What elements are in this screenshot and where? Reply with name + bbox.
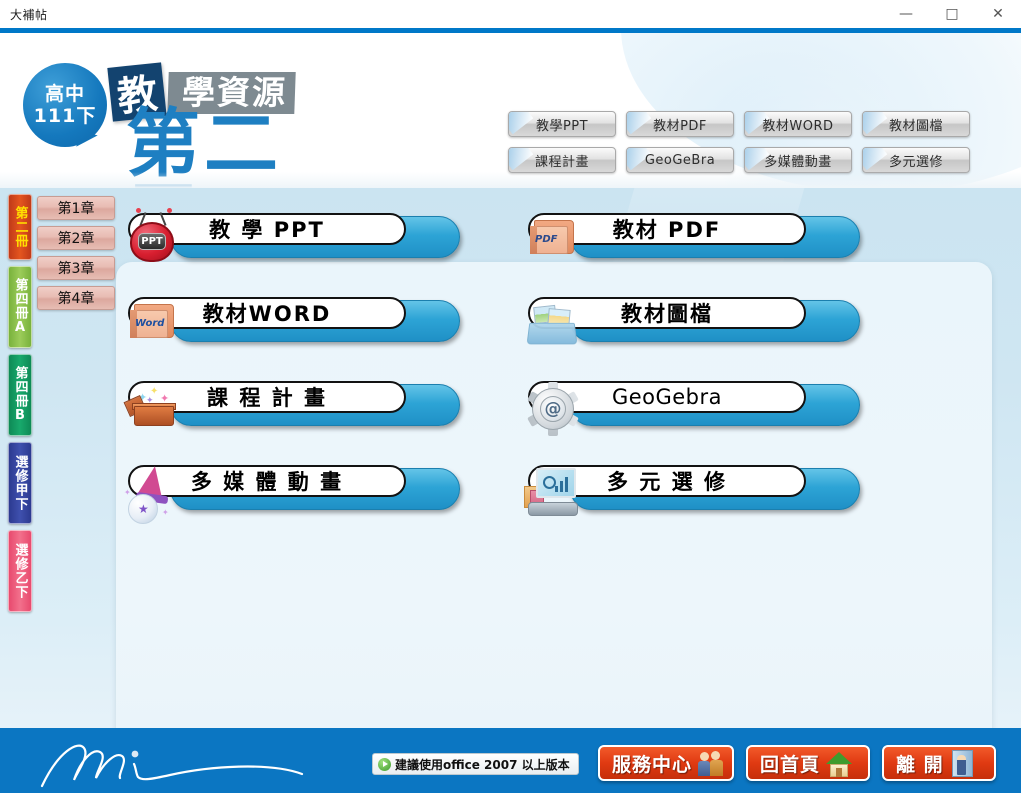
people-icon [698,749,724,777]
nav-stripe-decor-icon [508,147,533,170]
header-nav-word-label: 教材WORD [762,115,833,134]
header-nav-pdf[interactable]: 教材PDF [626,111,734,137]
box-base-icon [134,406,174,426]
header-nav-buttons: 教學PPT 教材PDF 教材WORD 教材圖檔 課程計畫 GeoGeBra 多媒… [508,111,1008,173]
at-symbol-icon: @ [540,396,566,422]
menu-item-diverse-elective[interactable]: 多 元 選 修 [522,460,862,518]
ppt-tv-icon: PPT [122,208,184,266]
treasure-box-icon: ✦ ✦ ✦ ✦ [122,376,184,434]
app-header: 高中 111下 教 學資源 第二冊 教學PPT 教材PDF 教材WORD 教材圖… [0,33,1021,188]
window-titlebar: 大補帖 — □ ✕ [0,0,1021,28]
volume-tab-list: 第二冊 第四冊A 第四冊B 選修甲下 選修乙下 [8,194,32,618]
exit-door-icon [950,749,976,777]
folder-tag-label: Word [135,318,164,329]
header-nav-plan-label: 課程計畫 [535,151,589,170]
sidebar-tab-elective-b[interactable]: 選修乙下 [8,530,32,612]
header-nav-animation-label: 多媒體動畫 [764,151,832,170]
window-title: 大補帖 [10,6,48,23]
nani-brand-logo [30,734,330,790]
maximize-button[interactable]: □ [929,0,975,28]
header-nav-image-label: 教材圖檔 [889,115,943,134]
nav-stripe-decor-icon [508,111,533,134]
menu-item-course-plan[interactable]: 課 程 計 畫 ✦ ✦ ✦ ✦ [122,376,462,434]
minimize-button[interactable]: — [883,0,929,28]
header-nav-elective-label: 多元選修 [889,151,943,170]
menu-item-material-word[interactable]: 教材WORD Word [122,292,462,350]
header-fade-decor [0,172,1021,188]
sparkle-icon: ✦ [124,488,131,497]
menu-item-teaching-ppt[interactable]: 教 學 PPT PPT [122,208,462,266]
pdf-folder-icon: PDF [522,208,584,266]
grade-badge: 高中 111下 [23,63,107,147]
header-nav-plan[interactable]: 課程計畫 [508,147,616,173]
sidebar-tab-elective-a[interactable]: 選修甲下 [8,442,32,524]
nav-stripe-decor-icon [626,111,651,134]
grade-badge-line2: 111下 [34,105,97,127]
grade-badge-line1: 高中 [45,83,85,105]
house-icon [826,749,852,777]
antenna-dot-icon [136,208,141,213]
folder-tag-label: PDF [535,234,557,245]
service-center-button[interactable]: 服務中心 [598,745,734,781]
header-nav-word[interactable]: 教材WORD [744,111,852,137]
tray-icon [527,323,578,345]
exit-button-label: 離 開 [896,750,944,777]
exit-button[interactable]: 離 開 [882,745,996,781]
header-nav-geogebra[interactable]: GeoGeBra [626,147,734,173]
header-nav-ppt[interactable]: 教學PPT [508,111,616,137]
stand-icon [528,502,578,516]
chapter-button-2[interactable]: 第2章 [37,226,115,250]
image-tray-icon [522,292,584,350]
home-button[interactable]: 回首頁 [746,745,870,781]
monitor-icon [536,468,576,498]
home-button-label: 回首頁 [760,750,820,777]
bar-chart-icon [555,477,568,492]
tv-screen-label: PPT [138,233,166,250]
header-nav-pdf-label: 教材PDF [653,115,707,134]
service-center-button-label: 服務中心 [612,750,692,777]
play-icon [378,758,391,771]
menu-item-multimedia-animation[interactable]: 多 媒 體 動 畫 ★ ✦ ✦ [122,460,462,518]
nav-stripe-decor-icon [862,147,887,170]
chapter-button-list: 第1章 第2章 第3章 第4章 [37,196,115,316]
star-icon: ★ [138,502,149,516]
magic-hat-icon: ★ ✦ ✦ [122,460,184,518]
menu-item-geogebra[interactable]: GeoGebra @ [522,376,862,434]
multimedia-icon [522,460,584,518]
header-nav-geogebra-label: GeoGeBra [645,153,715,168]
office-version-notice: 建議使用office 2007 以上版本 [372,753,579,775]
header-nav-ppt-label: 教學PPT [536,115,588,134]
resource-menu-grid: 教 學 PPT PPT 教材 PDF PDF 教材WORD Word [122,208,862,518]
menu-item-material-pdf[interactable]: 教材 PDF PDF [522,208,862,266]
word-folder-icon: Word [122,292,184,350]
brand-logo: 高中 111下 教 學資源 第二冊 [18,45,338,185]
chapter-button-1[interactable]: 第1章 [37,196,115,220]
gear-at-icon: @ [522,376,584,434]
nav-stripe-decor-icon [862,111,887,134]
office-version-notice-label: 建議使用office 2007 以上版本 [395,756,570,773]
sidebar-tab-volume-4b[interactable]: 第四冊B [8,354,32,436]
sparkle-icon: ✦ [162,508,169,517]
menu-item-material-images[interactable]: 教材圖檔 [522,292,862,350]
header-nav-animation[interactable]: 多媒體動畫 [744,147,852,173]
antenna-dot-icon [167,208,172,213]
sidebar-tab-volume-2[interactable]: 第二冊 [8,194,32,260]
header-nav-image[interactable]: 教材圖檔 [862,111,970,137]
chapter-button-4[interactable]: 第4章 [37,286,115,310]
header-nav-elective[interactable]: 多元選修 [862,147,970,173]
close-button[interactable]: ✕ [975,0,1021,28]
sidebar-tab-volume-4a[interactable]: 第四冊A [8,266,32,348]
chapter-button-3[interactable]: 第3章 [37,256,115,280]
